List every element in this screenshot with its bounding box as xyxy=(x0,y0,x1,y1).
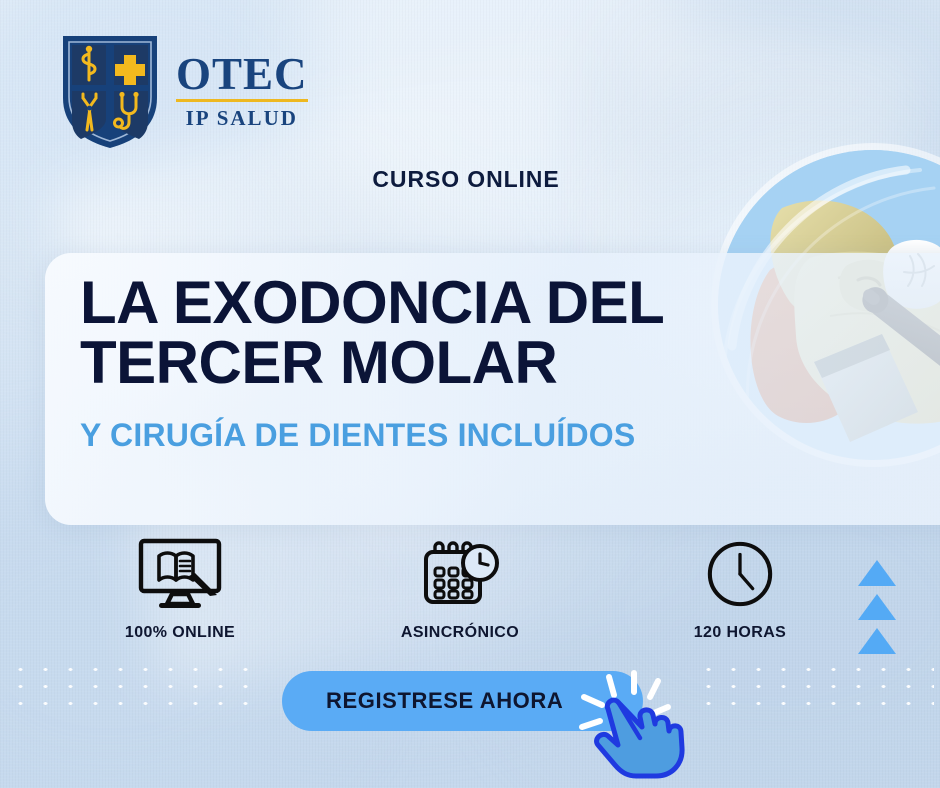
brand-logo: OTEC IP SALUD xyxy=(58,28,308,150)
cta-area: REGISTRESE AHORA xyxy=(282,671,643,731)
brand-name: OTEC xyxy=(176,53,308,96)
feature-label: ASINCRÓNICO xyxy=(340,624,580,642)
brand-divider xyxy=(176,99,308,102)
feature-row: 100% ONLINE xyxy=(60,538,860,642)
clock-icon xyxy=(620,538,860,610)
course-subtitle: Y CIRUGÍA DE DIENTES INCLUÍDOS xyxy=(80,417,720,454)
course-promo-poster: OTEC IP SALUD CURSO ONLINE xyxy=(0,0,940,788)
title-block: LA EXODONCIA DEL TERCER MOLAR Y CIRUGÍA … xyxy=(80,275,720,454)
register-now-label: REGISTRESE AHORA xyxy=(282,688,563,714)
brand-wordmark: OTEC IP SALUD xyxy=(176,47,308,131)
monitor-book-icon xyxy=(60,538,300,610)
feature-item-online: 100% ONLINE xyxy=(60,538,300,642)
calendar-clock-icon xyxy=(340,538,580,610)
triangle-up-icon xyxy=(858,594,896,620)
register-now-button[interactable]: REGISTRESE AHORA xyxy=(282,671,643,731)
triangle-stack xyxy=(858,560,896,654)
course-title-line-2: TERCER MOLAR xyxy=(80,335,720,391)
triangle-up-icon xyxy=(858,560,896,586)
triangle-up-icon xyxy=(858,628,896,654)
brand-tagline: IP SALUD xyxy=(176,106,308,131)
feature-label: 120 HORAS xyxy=(620,624,860,642)
medical-shield-icon xyxy=(58,28,162,150)
feature-item-hours: 120 HORAS xyxy=(620,538,860,642)
feature-item-async: ASINCRÓNICO xyxy=(340,538,580,642)
course-title-line-1: LA EXODONCIA DEL xyxy=(80,275,720,331)
feature-label: 100% ONLINE xyxy=(60,624,300,642)
